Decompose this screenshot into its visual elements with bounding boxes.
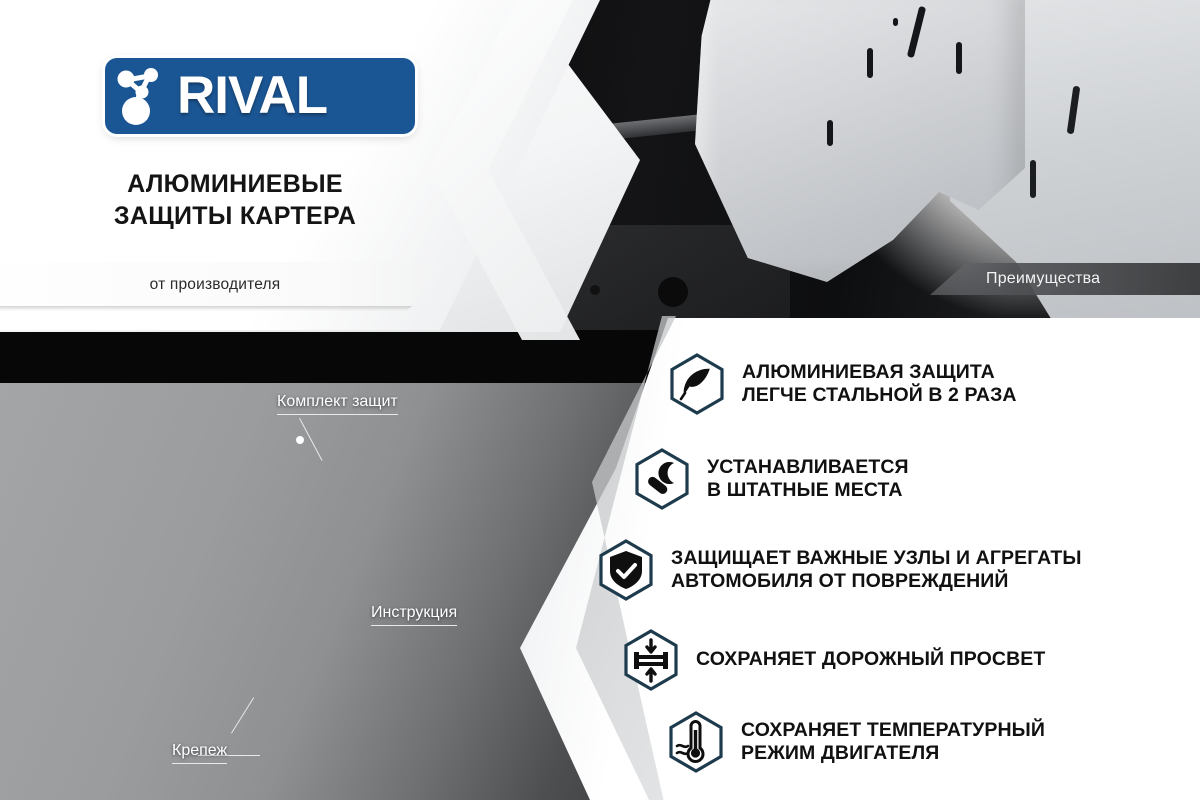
feature-text-2: УСТАНАВЛИВАЕТСЯВ ШТАТНЫЕ МЕСТА bbox=[707, 456, 909, 503]
feature-item-4: СОХРАНЯЕТ ДОРОЖНЫЙ ПРОСВЕТ bbox=[622, 628, 1045, 692]
page-title-line-1: АЛЮМИНИЕВЫЕ bbox=[0, 168, 470, 200]
feature-item-2: УСТАНАВЛИВАЕТСЯВ ШТАТНЫЕ МЕСТА bbox=[633, 447, 909, 511]
feather-icon bbox=[668, 352, 726, 416]
wrench-icon bbox=[633, 447, 691, 511]
callout-dot-kit bbox=[296, 436, 304, 444]
feature-text-3: ЗАЩИЩАЕТ ВАЖНЫЕ УЗЛЫ И АГРЕГАТЫАВТОМОБИЛ… bbox=[671, 547, 1082, 594]
molecule-icon bbox=[105, 58, 177, 134]
advantages-tab-label: Преимущества bbox=[930, 270, 1100, 288]
skid-plate-front bbox=[695, 0, 1025, 282]
callout-label-instruction: Инструкция bbox=[371, 604, 457, 626]
subframe-hole bbox=[658, 277, 688, 307]
feature-item-5: СОХРАНЯЕТ ТЕМПЕРАТУРНЫЙРЕЖИМ ДВИГАТЕЛЯ bbox=[667, 710, 1045, 774]
manufacturer-bar-shadow bbox=[0, 306, 466, 311]
feature-text-1: АЛЮМИНИЕВАЯ ЗАЩИТАЛЕГЧЕ СТАЛЬНОЙ В 2 РАЗ… bbox=[742, 361, 1017, 408]
thermometer-icon bbox=[667, 710, 725, 774]
feature-item-1: АЛЮМИНИЕВАЯ ЗАЩИТАЛЕГЧЕ СТАЛЬНОЙ В 2 РАЗ… bbox=[668, 352, 1017, 416]
feature-text-5: СОХРАНЯЕТ ТЕМПЕРАТУРНЫЙРЕЖИМ ДВИГАТЕЛЯ bbox=[741, 719, 1045, 766]
page-title-line-2: ЗАЩИТЫ КАРТЕРА bbox=[0, 200, 470, 232]
feature-item-3: ЗАЩИЩАЕТ ВАЖНЫЕ УЗЛЫ И АГРЕГАТЫАВТОМОБИЛ… bbox=[597, 538, 1082, 602]
ground-clearance-icon bbox=[622, 628, 680, 692]
subframe-hole-small bbox=[590, 285, 600, 295]
rival-logo[interactable]: RIVAL bbox=[105, 58, 415, 134]
advantages-tab[interactable]: Преимущества bbox=[930, 263, 1200, 295]
feature-text-4: СОХРАНЯЕТ ДОРОЖНЫЙ ПРОСВЕТ bbox=[696, 648, 1045, 671]
rival-logo-text: RIVAL bbox=[177, 58, 327, 134]
manufacturer-label: от производителя bbox=[0, 276, 470, 294]
callout-label-hardware: Крепеж bbox=[172, 742, 227, 764]
page-title: АЛЮМИНИЕВЫЕ ЗАЩИТЫ КАРТЕРА bbox=[0, 168, 514, 232]
promo-banner: Комплект защит Инструкция Крепеж Преимущ… bbox=[0, 0, 1200, 800]
callout-label-kit: Комплект защит bbox=[277, 393, 398, 415]
shield-check-icon bbox=[597, 538, 655, 602]
manufacturer-bar: от производителя bbox=[0, 262, 470, 308]
